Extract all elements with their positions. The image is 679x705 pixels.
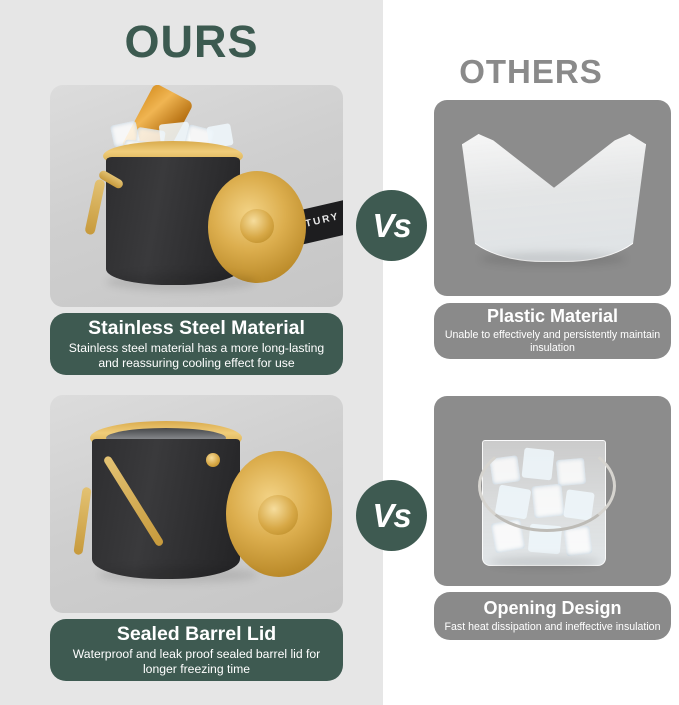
ours-product-image-1: NTURY: [50, 85, 343, 307]
others-product-image-1: [434, 100, 671, 296]
vs-badge-2: Vs: [356, 480, 427, 551]
lid-knob: [240, 209, 274, 243]
bucket-handle-left: [73, 487, 91, 556]
photo-shadow: [98, 567, 258, 583]
others-caption-2: Opening Design Fast heat dissipation and…: [434, 592, 671, 640]
comparison-infographic: OURS OTHERS NTURY: [0, 0, 679, 705]
others-photo-art-2: [434, 396, 671, 586]
ours-caption-title-1: Stainless Steel Material: [88, 317, 305, 339]
bucket-handle: [84, 179, 105, 236]
ours-heading: OURS: [0, 18, 383, 66]
ours-photo-art-1: NTURY: [50, 85, 343, 307]
photo-shadow: [106, 273, 256, 291]
ours-product-image-2: [50, 395, 343, 613]
photo-shadow: [490, 556, 600, 568]
ours-caption-desc-1: Stainless steel material has a more long…: [60, 341, 333, 372]
photo-shadow: [480, 252, 626, 266]
ice-cube: [563, 526, 592, 557]
metal-handle-icon: [478, 440, 616, 532]
others-photo-art-1: [434, 100, 671, 296]
others-caption-1: Plastic Material Unable to effectively a…: [434, 303, 671, 359]
others-caption-desc-1: Unable to effectively and persistently m…: [444, 329, 661, 355]
others-product-image-2: [434, 396, 671, 586]
others-caption-desc-2: Fast heat dissipation and ineffective in…: [445, 621, 661, 634]
handle-rivet: [206, 453, 220, 467]
others-caption-title-2: Opening Design: [483, 598, 621, 619]
ours-caption-desc-2: Waterproof and leak proof sealed barrel …: [60, 647, 333, 678]
plastic-boat-bucket-icon: [462, 134, 646, 262]
ours-caption-2: Sealed Barrel Lid Waterproof and leak pr…: [50, 619, 343, 681]
ours-caption-1: Stainless Steel Material Stainless steel…: [50, 313, 343, 375]
lid-knob: [258, 495, 298, 535]
others-caption-title-1: Plastic Material: [487, 306, 618, 327]
ours-caption-title-2: Sealed Barrel Lid: [117, 623, 276, 645]
ours-photo-art-2: [50, 395, 343, 613]
vs-badge-1: Vs: [356, 190, 427, 261]
others-heading: OTHERS: [383, 54, 679, 90]
